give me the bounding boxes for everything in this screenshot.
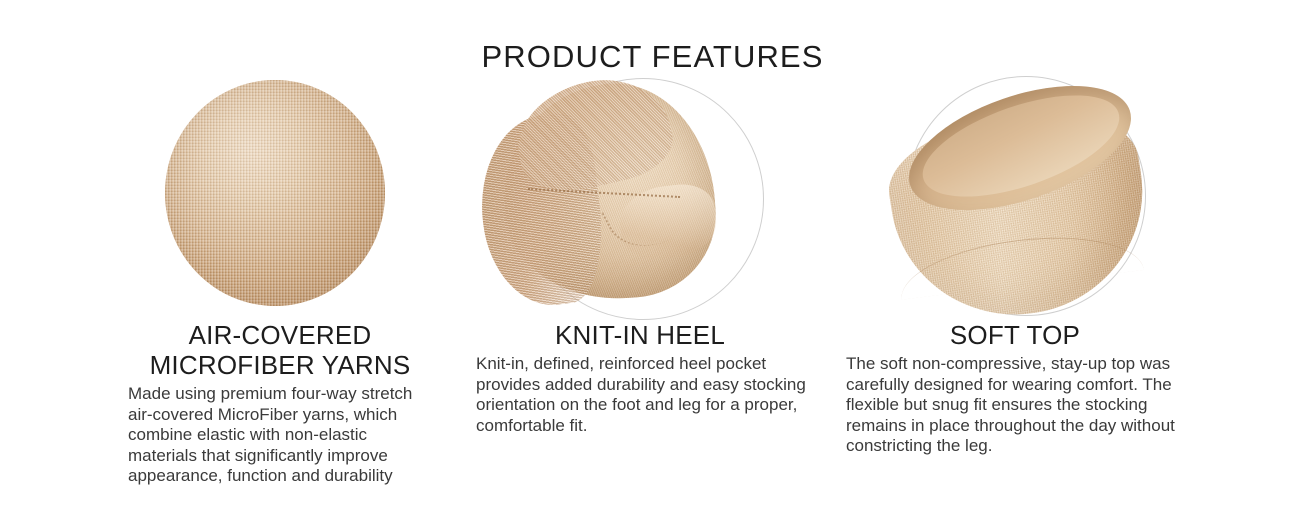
feature-description: Knit-in, defined, reinforced heel pocket… (476, 354, 808, 436)
feature-description: The soft non-compressive, stay-up top wa… (846, 354, 1190, 457)
feature-heading: AIR-COVERED MICROFIBER YARNS (120, 320, 440, 380)
feature-image-knit-in-heel (470, 70, 810, 310)
feature-image-soft-top (840, 70, 1190, 310)
feature-item-knit-in-heel: KNIT-IN HEEL Knit-in, defined, reinforce… (470, 70, 810, 436)
feature-item-air-covered-microfiber-yarns: AIR-COVERED MICROFIBER YARNS Made using … (120, 70, 440, 487)
feature-description: Made using premium four-way stretch air-… (128, 384, 438, 487)
fabric-swatch-image (165, 80, 385, 306)
feature-item-soft-top: SOFT TOP The soft non-compressive, stay-… (840, 70, 1190, 457)
feature-list: AIR-COVERED MICROFIBER YARNS Made using … (0, 70, 1305, 516)
soft-top-image (860, 90, 1180, 340)
knit-in-heel-image (470, 74, 770, 322)
feature-image-air-covered-microfiber-yarns (120, 70, 440, 310)
feature-heading: KNIT-IN HEEL (470, 320, 810, 350)
